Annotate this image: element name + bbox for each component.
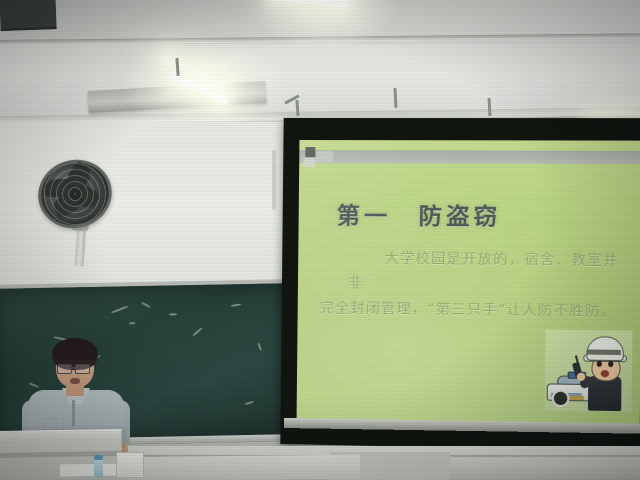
chalk-mark: [192, 327, 202, 336]
policeman-eye: [597, 361, 602, 367]
chalk-mark: [141, 302, 151, 309]
slide-corner-block-secondary-icon: [303, 158, 315, 167]
slide-body-line-2: 完全封闭管理，“第三只手”让人防不胜防。: [320, 296, 625, 325]
projection-screen-surface: 第一 防盗窃 大学校园是开放的，宿舍、教室并非 完全封闭管理，“第三只手”让人防…: [297, 140, 640, 429]
chalk-mark: [257, 343, 262, 351]
presenter-mouth: [70, 378, 80, 384]
glasses-icon: [75, 364, 90, 374]
water-bottle-cap: [94, 455, 103, 460]
chalk-mark: [245, 401, 254, 406]
slide-body-text: 大学校园是开放的，宿舍、教室并非 完全封闭管理，“第三只手”让人防不胜防。: [320, 246, 625, 325]
policeman-mouth: [601, 370, 609, 377]
slide-body-line-1: 大学校园是开放的，宿舍、教室并非: [320, 246, 625, 300]
helmet-band: [587, 349, 620, 355]
water-bottle: [94, 458, 103, 478]
papers-on-desk: [60, 463, 122, 476]
ceiling-vent: [0, 0, 57, 31]
chalk-mark: [169, 313, 177, 315]
policeman-eye: [608, 361, 613, 367]
car-plate: [569, 396, 584, 400]
presenter-fringe: [53, 344, 97, 360]
car-wheel: [552, 390, 570, 408]
presenter-placket: [72, 400, 75, 426]
projection-screen: 第一 防盗窃 大学校园是开放的，宿舍、教室并非 完全封闭管理，“第三只手”让人防…: [282, 118, 640, 448]
tissue-box: [116, 452, 144, 478]
wall-pipe: [272, 150, 276, 210]
chalk-mark: [231, 303, 241, 307]
slide: 第一 防盗窃 大学校园是开放的，宿舍、教室并非 完全封闭管理，“第三只手”让人防…: [297, 140, 640, 429]
slide-toolbar-bar: [299, 150, 640, 164]
slide-title: 第一 防盗窃: [337, 196, 502, 231]
cartoon-policeman-illustration: [544, 330, 632, 413]
slide-corner-block-icon: [316, 151, 333, 162]
chalk-mark: [111, 305, 129, 313]
slide-corner-square-icon: [305, 147, 315, 157]
policeman-hand: [577, 373, 585, 381]
chalk-mark: [129, 322, 135, 324]
projection-screen-frame: 第一 防盗窃 大学校园是开放的，宿舍、教室并非 完全封闭管理，“第三只手”让人防…: [280, 118, 640, 452]
glasses-icon: [57, 364, 72, 374]
glasses-bridge: [70, 367, 75, 369]
classroom-photo: 第一 防盗窃 大学校园是开放的，宿舍、教室并非 完全封闭管理，“第三只手”让人防…: [0, 0, 640, 480]
